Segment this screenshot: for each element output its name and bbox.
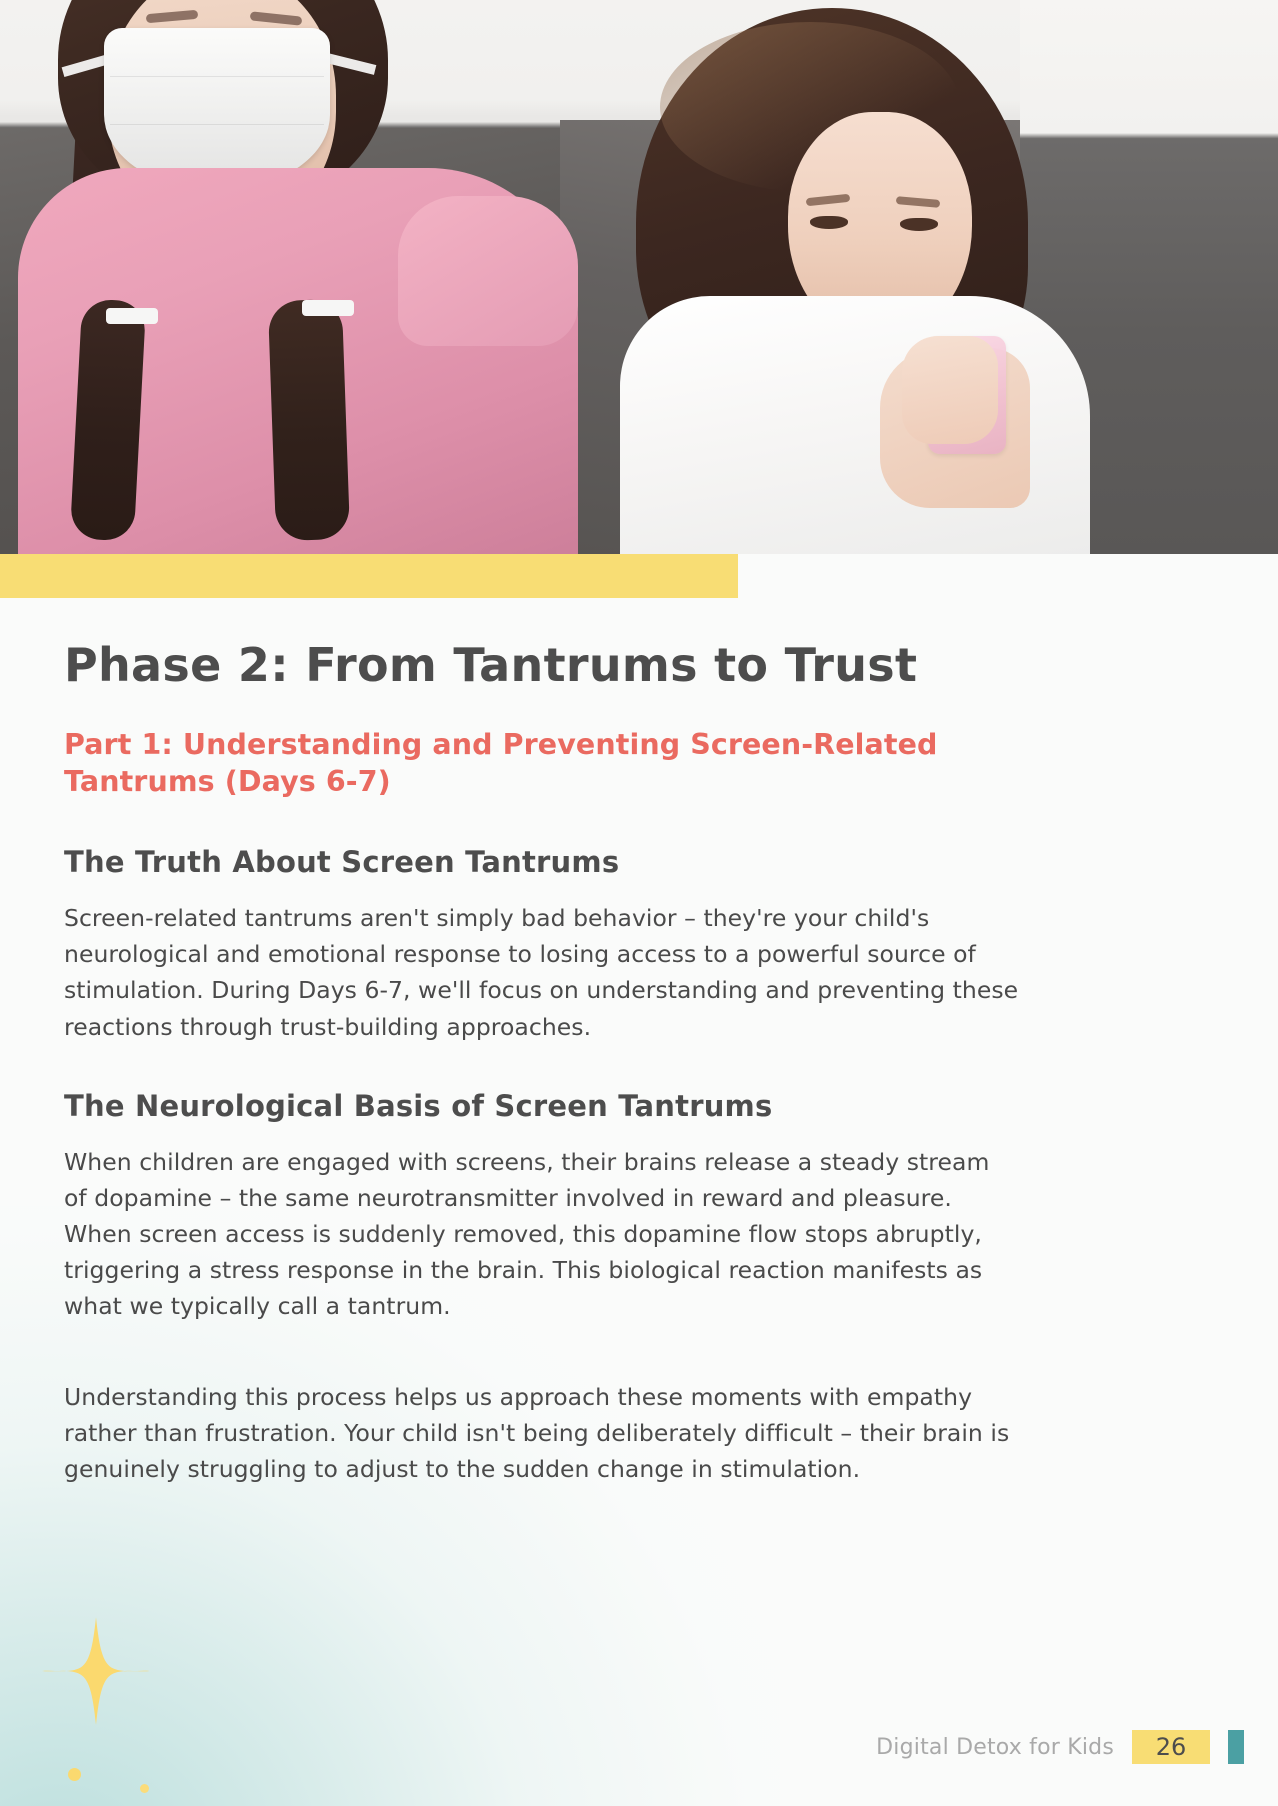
decoration-dot-small	[140, 1784, 149, 1793]
page-content: Phase 2: From Tantrums to Trust Part 1: …	[64, 640, 1064, 1487]
page-subtitle: Part 1: Understanding and Preventing Scr…	[64, 726, 944, 802]
sparkle-icon	[40, 1615, 152, 1727]
hero-child-one-braid-right-lower	[268, 299, 350, 541]
decoration-dot-large	[68, 1768, 81, 1781]
paragraph-spacer	[64, 1359, 1064, 1379]
section-heading-neurological-basis: The Neurological Basis of Screen Tantrum…	[64, 1089, 1064, 1124]
section-heading-truth-about-screen-tantrums: The Truth About Screen Tantrums	[64, 845, 1064, 880]
document-page: Phase 2: From Tantrums to Trust Part 1: …	[0, 0, 1278, 1806]
yellow-accent-bar	[0, 554, 738, 598]
hero-child-two-hand	[902, 336, 998, 444]
page-footer: Digital Detox for Kids 26	[876, 1730, 1244, 1764]
section-paragraph: Understanding this process helps us appr…	[64, 1379, 1019, 1488]
footer-teal-tick	[1228, 1730, 1244, 1764]
hero-child-one-sleeve	[398, 196, 578, 346]
hero-child-two-eye-left	[810, 216, 848, 229]
page-title: Phase 2: From Tantrums to Trust	[64, 640, 1064, 692]
hero-child-one-hair-tie-right	[302, 300, 354, 316]
footer-book-title: Digital Detox for Kids	[876, 1735, 1114, 1760]
hero-child-one-hair-tie-left	[106, 308, 158, 324]
hero-photo	[0, 0, 1278, 554]
section-paragraph: When children are engaged with screens, …	[64, 1144, 1019, 1325]
hero-child-one-face-mask	[104, 28, 330, 188]
section-paragraph: Screen-related tantrums aren't simply ba…	[64, 900, 1019, 1045]
hero-child-one-braid-left-lower	[70, 298, 146, 541]
hero-child-two-eye-right	[900, 218, 938, 231]
page-number-badge: 26	[1132, 1730, 1210, 1764]
